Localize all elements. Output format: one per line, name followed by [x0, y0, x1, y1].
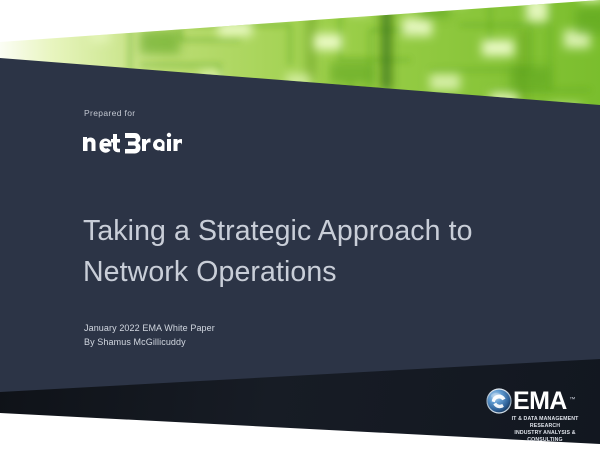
- prepared-for-label: Prepared for: [84, 108, 135, 118]
- ema-wordmark-text: EMA: [513, 387, 567, 415]
- ema-tagline: IT & DATA MANAGEMENT RESEARCH INDUSTRY A…: [500, 416, 590, 444]
- netbrain-sponsor-logo: [82, 130, 182, 156]
- white-paper-cover-page: Prepared for: [0, 0, 600, 463]
- netbrain-wordmark-icon: [82, 130, 182, 156]
- ema-sphere-icon: [486, 388, 512, 414]
- ema-wordmark: EMA ™: [513, 388, 567, 414]
- byline: January 2022 EMA White Paper By Shamus M…: [84, 322, 215, 349]
- trademark-symbol: ™: [569, 387, 574, 413]
- ema-publisher-logo: EMA ™ IT & DATA MANAGEMENT RESEARCH INDU…: [486, 386, 590, 432]
- page-title: Taking a Strategic Approach to Network O…: [83, 211, 523, 293]
